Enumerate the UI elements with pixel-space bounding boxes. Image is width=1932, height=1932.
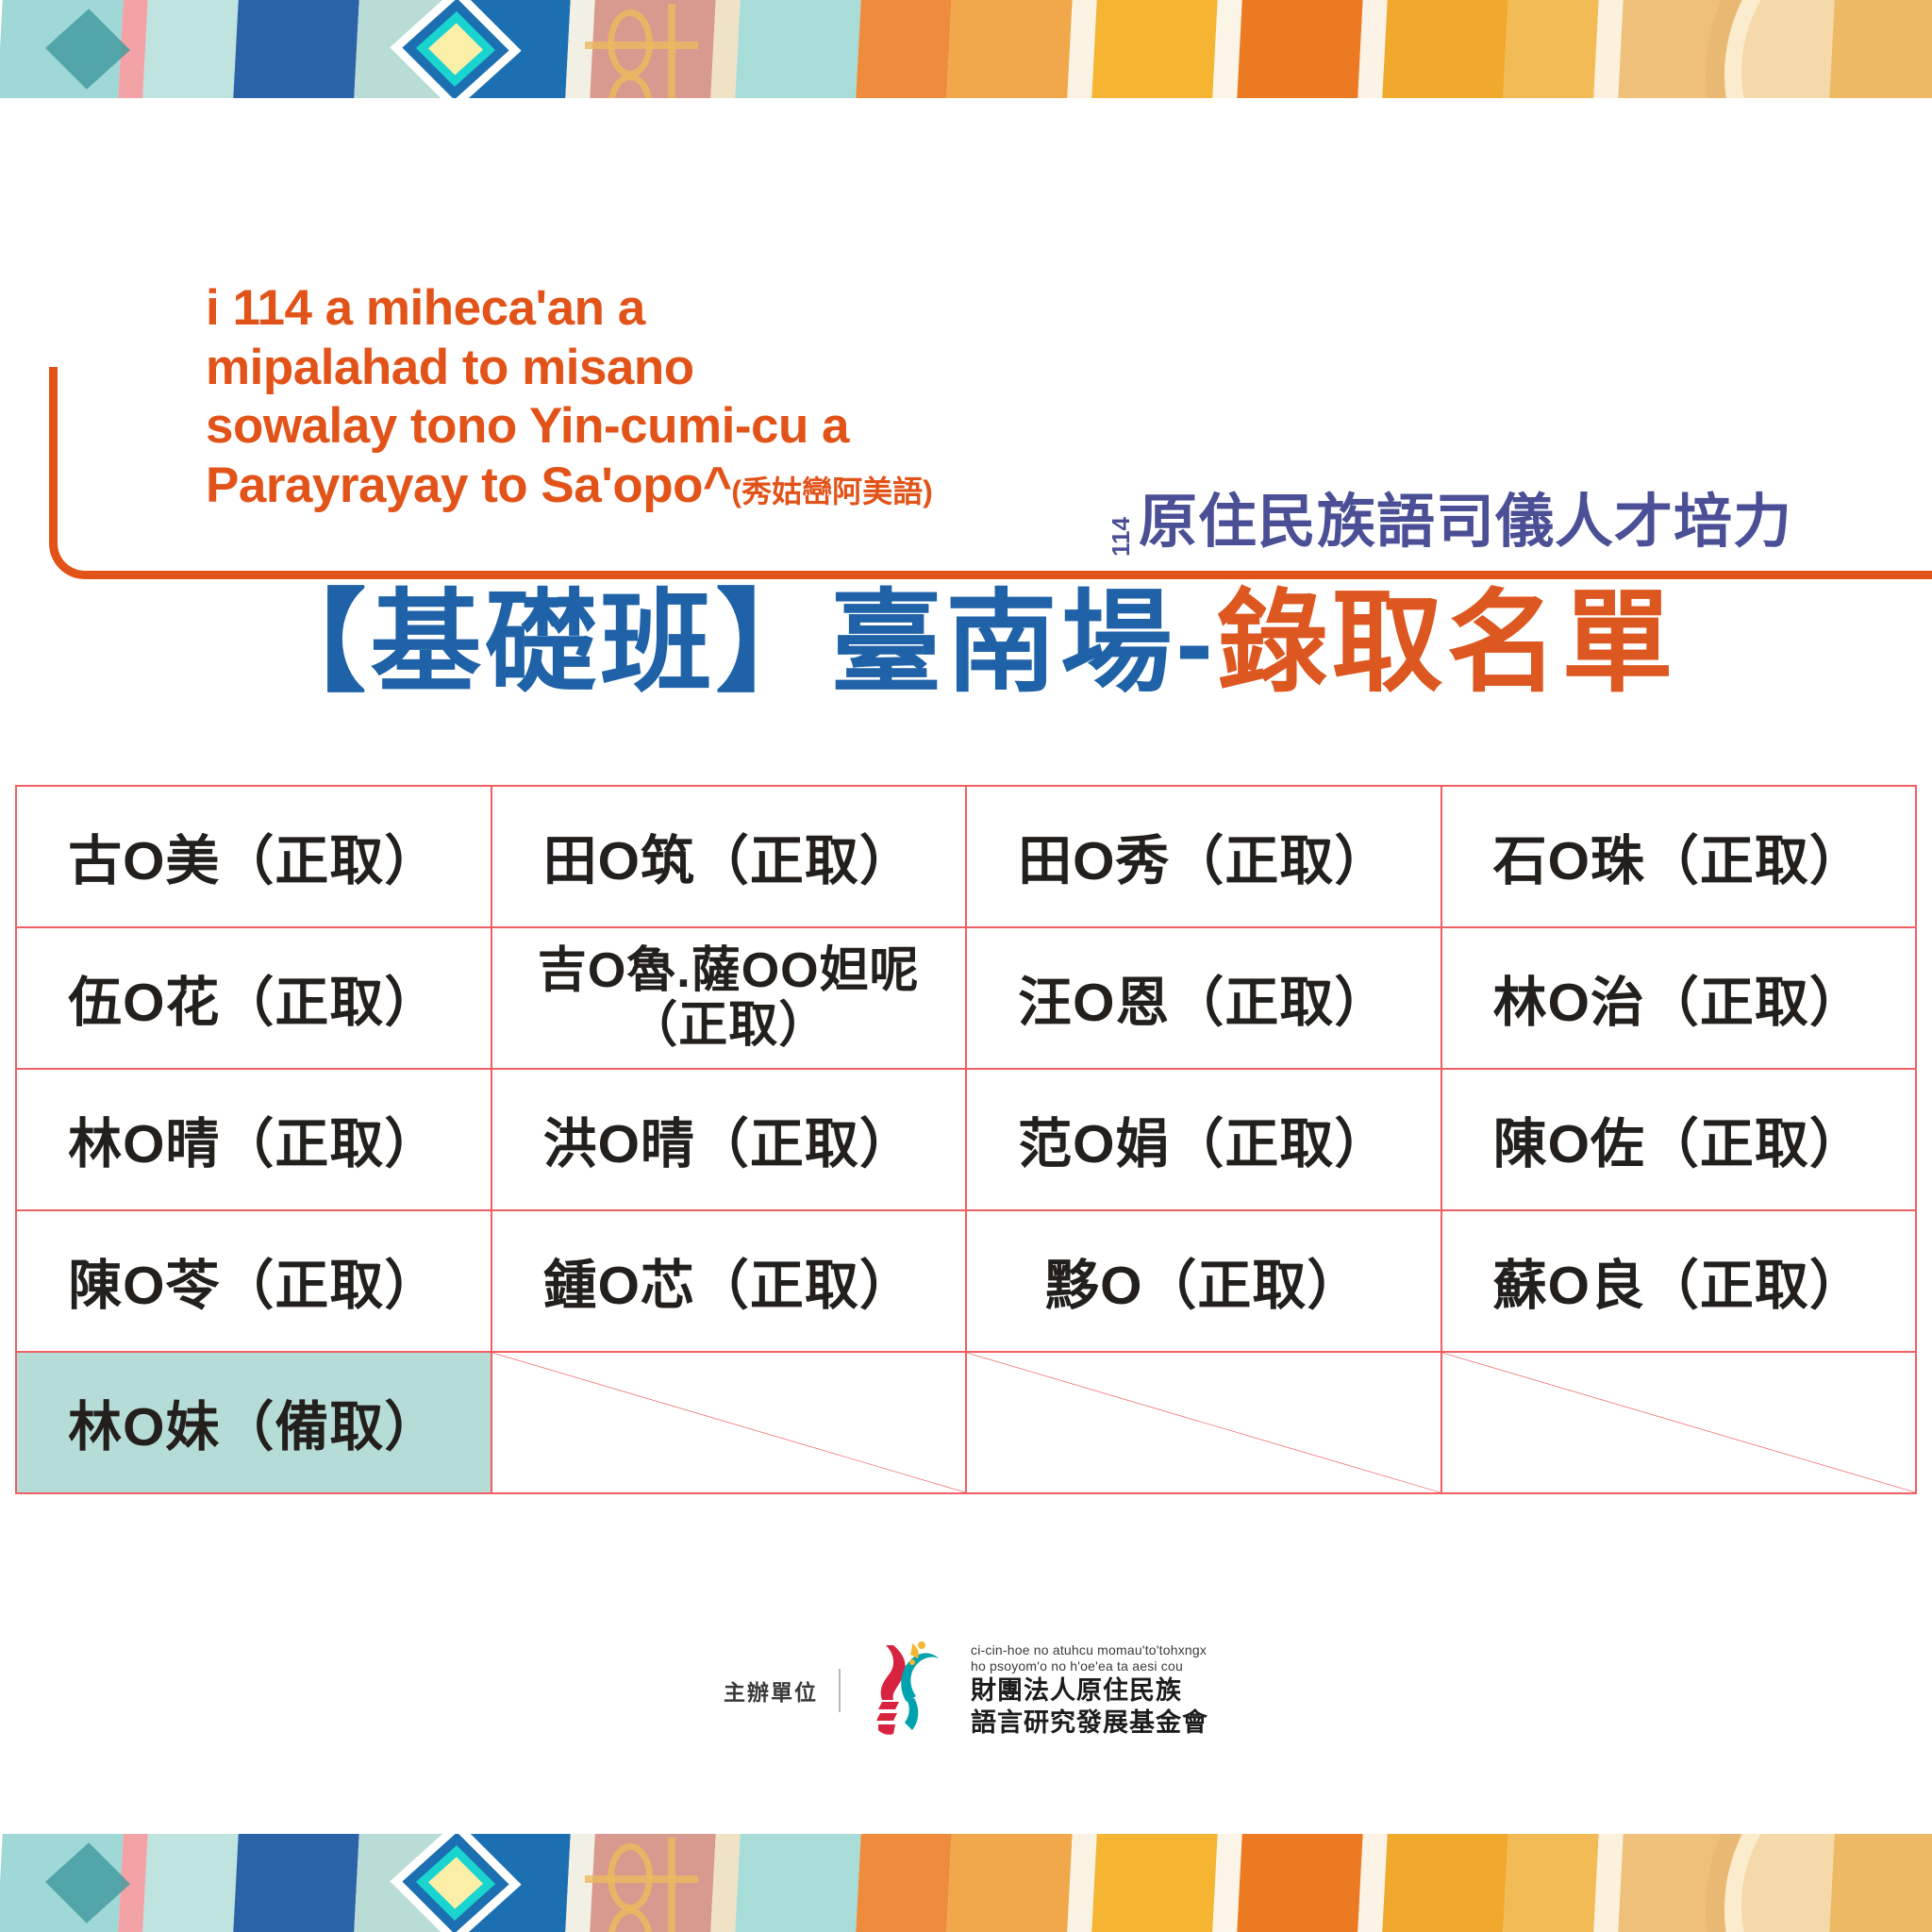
roster-cell: 田O秀（正取） [966, 786, 1441, 927]
strikethrough-icon [967, 1353, 1441, 1492]
strikethrough-icon [492, 1353, 966, 1492]
roster-cell: 范O娟（正取） [966, 1069, 1441, 1210]
ami-title-line-4: Parayrayay to Sa'opo^ [206, 458, 731, 513]
border-motif [585, 0, 698, 98]
border-band [1237, 1834, 1362, 1932]
ami-title-line-4-wrap: Parayrayay to Sa'opo^(秀姑巒阿美語) [206, 457, 1149, 516]
border-band [856, 0, 951, 98]
roster-cell: 蘇O良（正取） [1441, 1210, 1917, 1352]
ami-title-line-2: mipalahad to misano [206, 339, 1149, 398]
border-motif [585, 1834, 698, 1932]
roster-cell: 陳O苓（正取） [16, 1210, 491, 1352]
table-row: 林O妹（備取） [16, 1352, 1916, 1493]
page-title-class-venue: 【基礎班】臺南場- [255, 581, 1216, 706]
page-title-list-label: 錄取名單 [1217, 581, 1677, 706]
border-band [735, 1834, 860, 1932]
roster-cell: 林O晴（正取） [16, 1069, 491, 1210]
roster-cell-reserve: 林O妹（備取） [16, 1352, 491, 1493]
border-band [233, 1834, 358, 1932]
roster-cell: 古O美（正取） [16, 786, 491, 927]
table-row: 陳O苓（正取） 鍾O芯（正取） 黟O（正取） 蘇O良（正取） [16, 1210, 1916, 1352]
border-band [735, 0, 860, 98]
border-band [1503, 1834, 1598, 1932]
footer: 主辦單位 ci-cin-hoe no atuhcu momau'to'tohxn… [0, 1641, 1932, 1740]
border-band [1503, 0, 1598, 98]
foundation-romanized-line-1: ci-cin-hoe no atuhcu momau'to'tohxngx [971, 1642, 1208, 1659]
border-band [1382, 1834, 1507, 1932]
roster-cell: 黟O（正取） [966, 1210, 1441, 1352]
foundation-logo-icon [865, 1641, 956, 1740]
border-band [1091, 1834, 1217, 1932]
border-arcs [1649, 1834, 1932, 1932]
roster-cell: 陳O佐（正取） [1441, 1069, 1917, 1210]
border-band [1237, 0, 1362, 98]
program-year: 114 [1108, 517, 1133, 557]
roster-cell: 林O治（正取） [1441, 927, 1917, 1069]
admitted-roster-table: 古O美（正取） 田O筑（正取） 田O秀（正取） 石O珠（正取） 伍O花（正取） … [15, 785, 1917, 1494]
roster-cell: 鍾O芯（正取） [491, 1210, 967, 1352]
roster-body: 古O美（正取） 田O筑（正取） 田O秀（正取） 石O珠（正取） 伍O花（正取） … [16, 786, 1916, 1493]
roster-cell: 伍O花（正取） [16, 927, 491, 1069]
roster-cell: 田O筑（正取） [491, 786, 967, 927]
roster-cell-empty [1441, 1352, 1917, 1493]
ami-title-line-1: i 114 a miheca'an a [206, 279, 1149, 339]
border-diamond-highlight [385, 1834, 526, 1932]
roster-cell: 石O珠（正取） [1441, 786, 1917, 927]
table-row: 林O晴（正取） 洪O晴（正取） 范O娟（正取） 陳O佐（正取） [16, 1069, 1916, 1210]
border-band [946, 1834, 1072, 1932]
border-band [946, 0, 1072, 98]
program-title: 114 原住民族語司儀人才培力 [1101, 474, 1792, 558]
ami-title-note: (秀姑巒阿美語) [731, 475, 932, 508]
foundation-zh-line-1: 財團法人原住民族 [971, 1675, 1208, 1707]
page-title: 【基礎班】臺南場-錄取名單 [0, 552, 1932, 713]
top-decorative-border [0, 0, 1932, 98]
border-diamond-highlight [385, 0, 526, 98]
header: i 114 a miheca'an a mipalahad to misano … [0, 98, 1932, 494]
bottom-decorative-border [0, 1834, 1932, 1932]
table-row: 伍O花（正取） 吉O魯.薩OO妲呢（正取） 汪O恩（正取） 林O治（正取） [16, 927, 1916, 1069]
border-diamond [17, 1834, 158, 1932]
border-band [1382, 0, 1507, 98]
foundation-romanized-line-2: ho psoyom'o no h'oe'ea ta aesi cou [971, 1658, 1208, 1675]
foundation-zh-line-2: 語言研究發展基金會 [971, 1707, 1208, 1740]
ami-language-title: i 114 a miheca'an a mipalahad to misano … [206, 279, 1149, 515]
program-title-text: 原住民族語司儀人才培力 [1139, 474, 1792, 558]
ami-title-line-3: sowalay tono Yin-cumi-cu a [206, 397, 1149, 457]
border-diamond [17, 0, 158, 98]
roster-cell: 汪O恩（正取） [966, 927, 1441, 1069]
border-band [233, 0, 358, 98]
roster-cell: 洪O晴（正取） [491, 1069, 967, 1210]
foundation-name: ci-cin-hoe no atuhcu momau'to'tohxngx ho… [971, 1642, 1208, 1740]
border-band [1091, 0, 1217, 98]
footer-divider [839, 1669, 841, 1712]
border-band [856, 1834, 951, 1932]
border-arcs [1649, 0, 1932, 98]
roster-cell-empty [966, 1352, 1441, 1493]
roster-cell: 吉O魯.薩OO妲呢（正取） [491, 927, 967, 1069]
table-row: 古O美（正取） 田O筑（正取） 田O秀（正取） 石O珠（正取） [16, 786, 1916, 927]
roster-cell-empty [491, 1352, 967, 1493]
host-label: 主辦單位 [724, 1674, 839, 1707]
strikethrough-icon [1442, 1353, 1916, 1492]
